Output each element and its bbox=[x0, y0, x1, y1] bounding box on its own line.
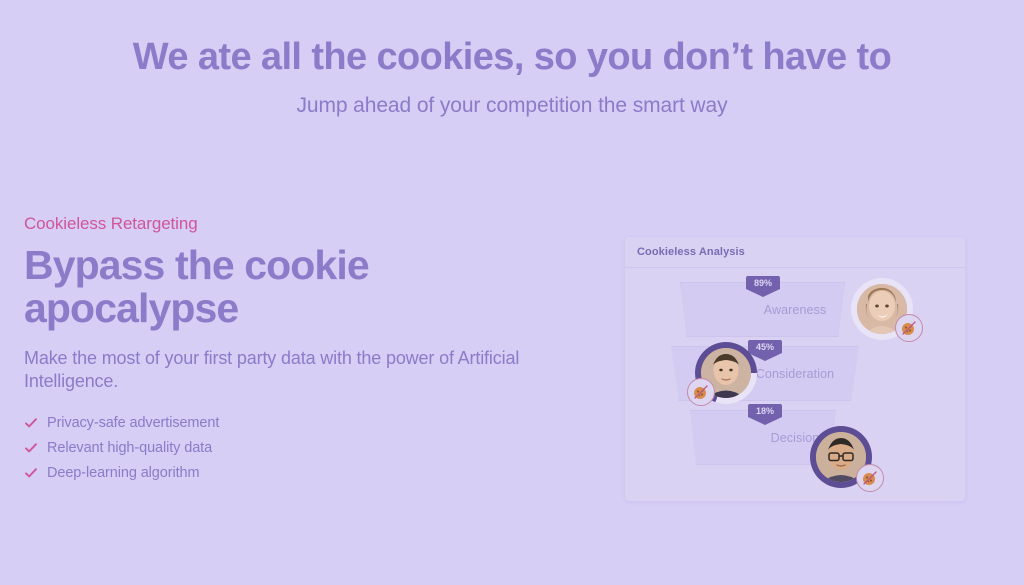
cookieless-analysis-card: Cookieless Analysis Awareness Considerat… bbox=[625, 237, 965, 501]
hero-section: We ate all the cookies, so you don’t hav… bbox=[0, 36, 1024, 118]
check-icon bbox=[24, 416, 47, 430]
feature-list: Privacy-safe advertisement Relevant high… bbox=[24, 415, 564, 481]
card-title: Cookieless Analysis bbox=[637, 246, 745, 258]
check-icon bbox=[24, 466, 47, 480]
section-subcopy: Make the most of your first party data w… bbox=[24, 347, 524, 393]
check-icon bbox=[24, 441, 47, 455]
feature-label: Relevant high-quality data bbox=[47, 440, 212, 456]
no-cookie-icon bbox=[895, 314, 923, 342]
page-title: We ate all the cookies, so you don’t hav… bbox=[0, 36, 1024, 80]
page-subtitle: Jump ahead of your competition the smart… bbox=[0, 94, 1024, 118]
eyebrow-label: Cookieless Retargeting bbox=[24, 214, 564, 234]
avatar-decision[interactable] bbox=[810, 426, 872, 488]
list-item: Deep-learning algorithm bbox=[24, 465, 564, 481]
feature-column: Cookieless Retargeting Bypass the cookie… bbox=[24, 214, 564, 490]
avatar-awareness[interactable] bbox=[851, 278, 913, 340]
feature-label: Privacy-safe advertisement bbox=[47, 415, 219, 431]
section-headline: Bypass the cookie apocalypse bbox=[24, 244, 454, 331]
funnel-step-label-decision: Decision bbox=[625, 431, 965, 445]
list-item: Privacy-safe advertisement bbox=[24, 415, 564, 431]
avatar-consideration[interactable] bbox=[695, 342, 757, 404]
no-cookie-icon bbox=[856, 464, 884, 492]
feature-label: Deep-learning algorithm bbox=[47, 465, 199, 481]
card-header: Cookieless Analysis bbox=[625, 237, 965, 268]
no-cookie-icon bbox=[687, 378, 715, 406]
funnel-step-label-consideration: Consideration bbox=[625, 367, 965, 381]
funnel-diagram: Awareness Consideration Decision 89% 45%… bbox=[625, 268, 965, 501]
list-item: Relevant high-quality data bbox=[24, 440, 564, 456]
